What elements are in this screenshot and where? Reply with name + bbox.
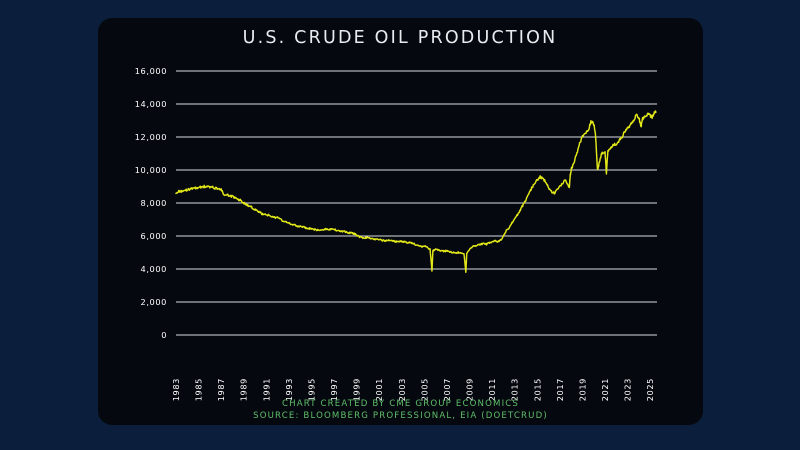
series-group [176, 111, 656, 272]
data-series-line [176, 111, 656, 272]
y-axis-tick-label: 2,000 [141, 297, 167, 307]
chart-screenshot: U.S. CRUDE OIL PRODUCTION 16,00014,00012… [0, 0, 800, 450]
line-chart-svg: 16,00014,00012,00010,0008,0006,0004,0002… [0, 0, 800, 450]
plot-area: 16,00014,00012,00010,0008,0006,0004,0002… [0, 0, 800, 450]
y-axis-tick-label: 0 [161, 330, 167, 340]
y-axis-tick-label: 12,000 [135, 132, 167, 142]
y-axis-tick-label: 14,000 [135, 99, 167, 109]
y-axis-tick-label: 10,000 [135, 165, 167, 175]
y-axis-labels-group: 16,00014,00012,00010,0008,0006,0004,0002… [135, 66, 167, 340]
gridlines-group [176, 71, 657, 335]
footer-line-1: CHART CREATED BY CME GROUP ECONOMICS [98, 398, 703, 410]
footer-credits: CHART CREATED BY CME GROUP ECONOMICS SOU… [98, 398, 703, 422]
y-axis-tick-label: 8,000 [141, 198, 167, 208]
y-axis-tick-label: 6,000 [141, 231, 167, 241]
y-axis-tick-label: 4,000 [141, 264, 167, 274]
y-axis-tick-label: 16,000 [135, 66, 167, 76]
footer-line-2: SOURCE: BLOOMBERG PROFESSIONAL, EIA (DOE… [98, 410, 703, 422]
